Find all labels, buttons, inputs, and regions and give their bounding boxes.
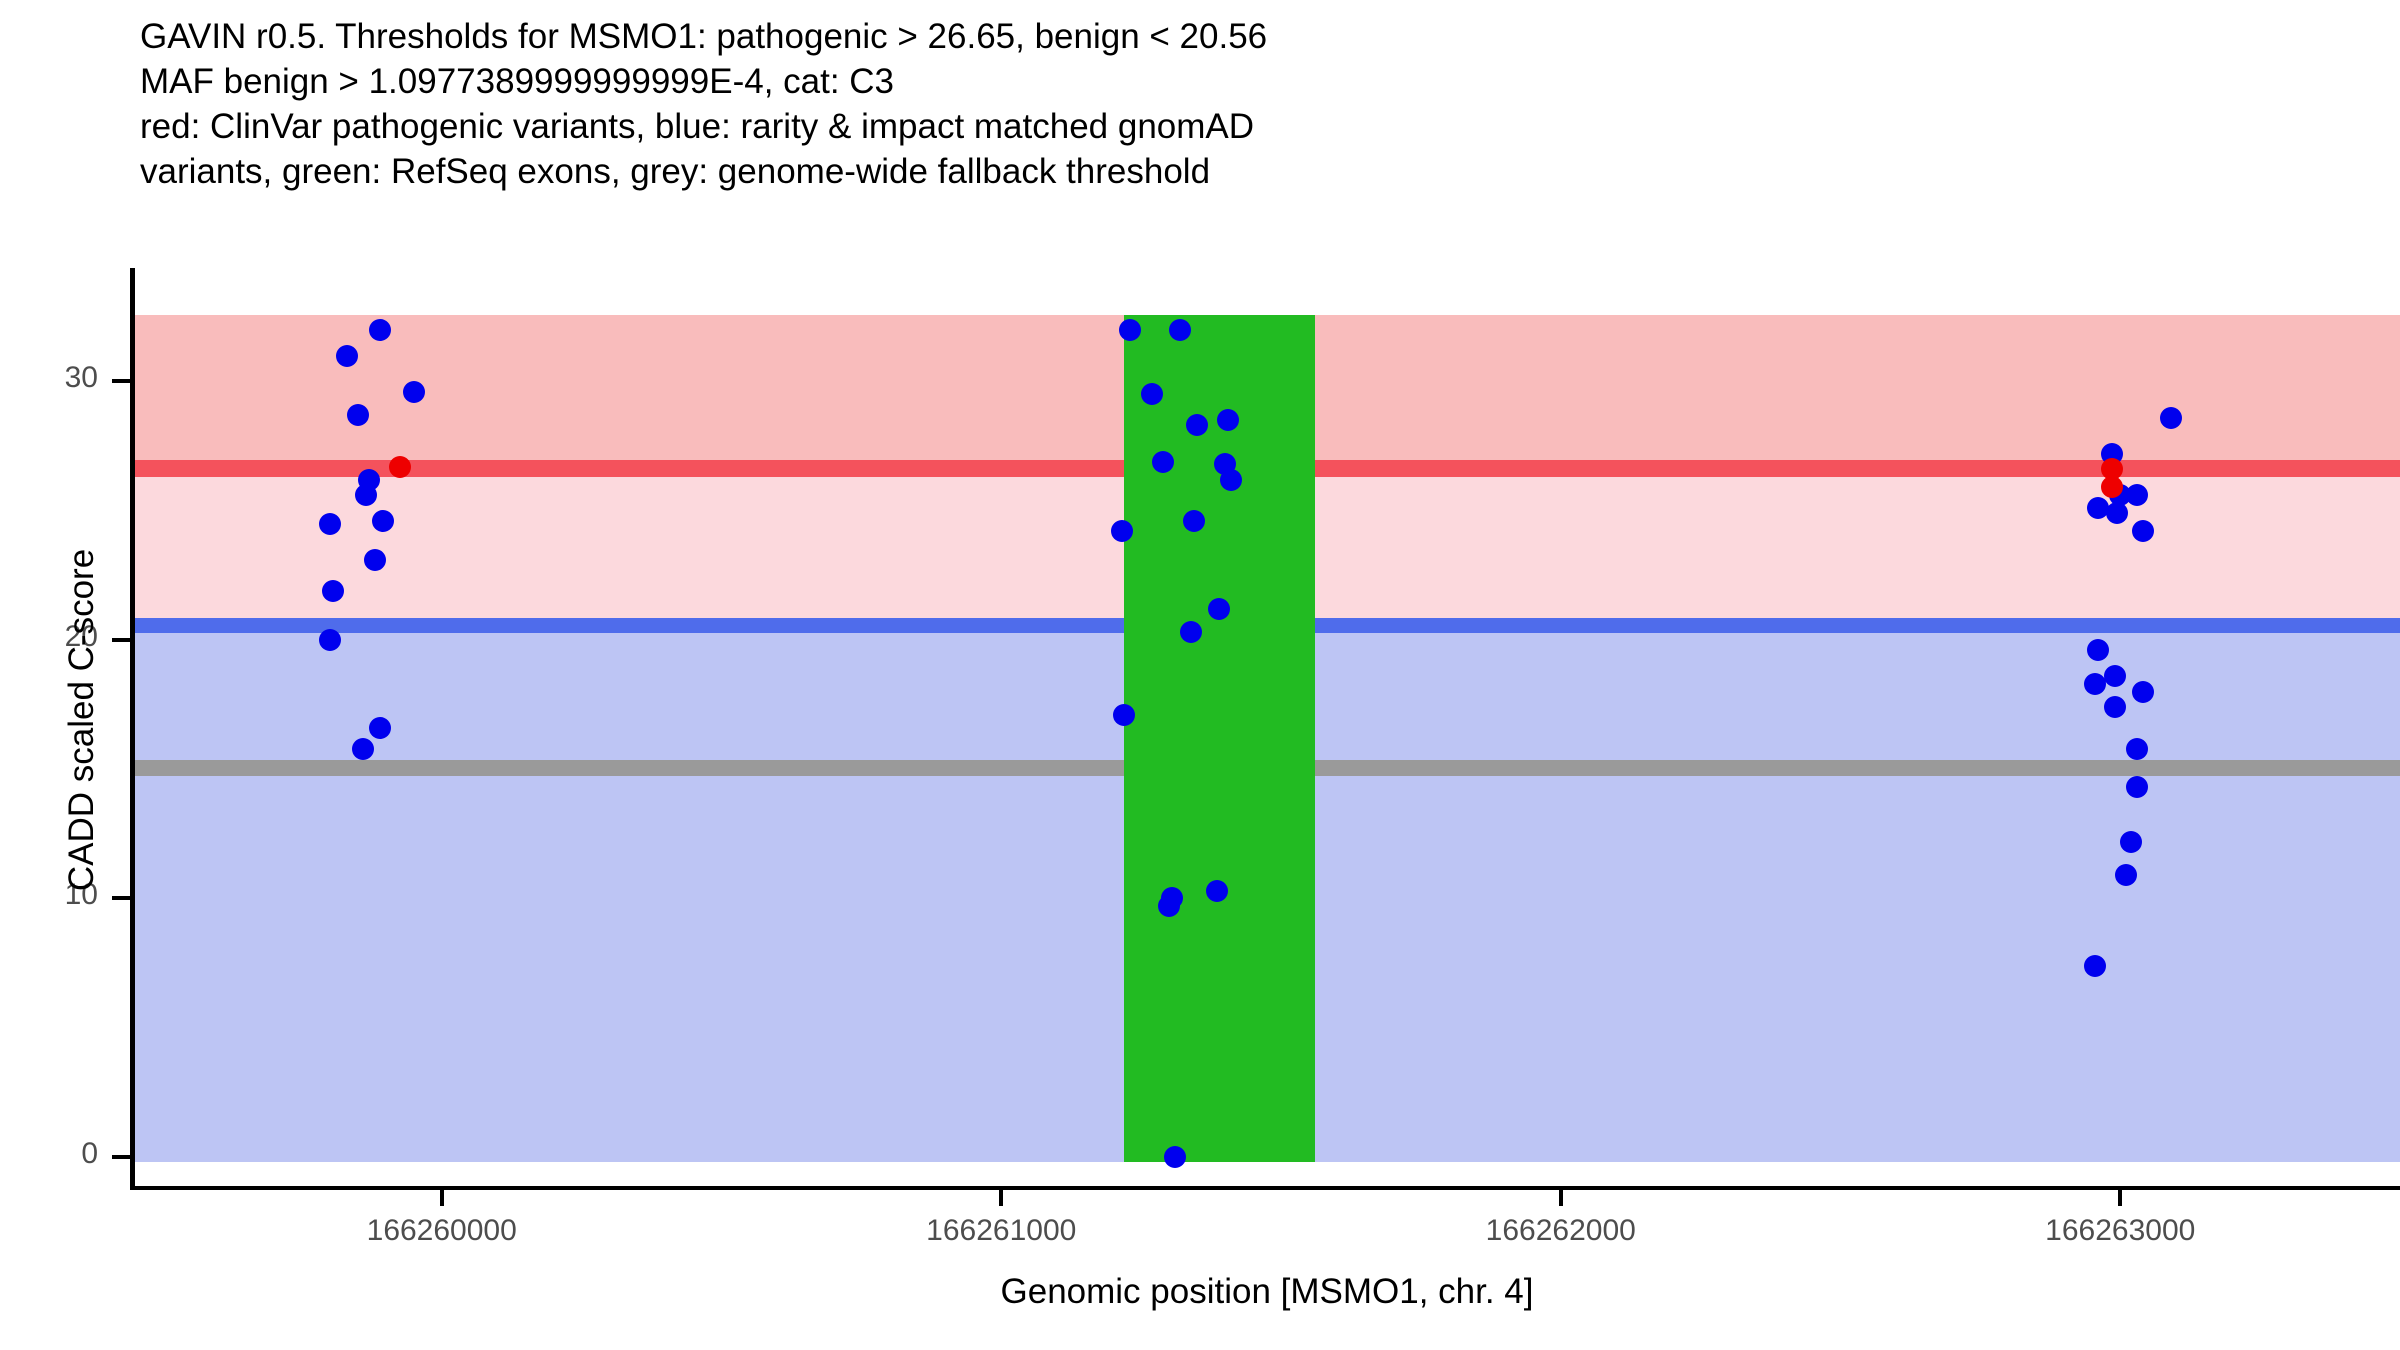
gnomad-variant-point [1119,319,1141,341]
y-axis-title: CADD scaled C-score [62,370,102,1070]
y-tick-mark [112,1155,130,1159]
x-tick-label: 166262000 [1486,1214,1636,1248]
gnomad-variant-point [2084,673,2106,695]
x-tick-mark [440,1190,444,1206]
x-tick-mark [999,1190,1003,1206]
gnomad-variant-point [364,549,386,571]
refseq-exon-band [1124,315,1314,1162]
gnomad-variant-point [2132,681,2154,703]
y-tick-mark [112,896,130,900]
title-line-2: MAF benign > 1.0977389999999999E-4, cat:… [140,59,2340,104]
gnomad-variant-point [2104,665,2126,687]
x-tick-mark [2118,1190,2122,1206]
gnomad-variant-point [1152,451,1174,473]
gnomad-variant-point [1111,520,1133,542]
y-tick-mark [112,638,130,642]
gnomad-variant-point [372,510,394,532]
plot-title: GAVIN r0.5. Thresholds for MSMO1: pathog… [140,14,2340,194]
clinvar-variant-point [389,456,411,478]
x-tick-label: 166263000 [2045,1214,2195,1248]
gnomad-variant-point [2084,955,2106,977]
gnomad-variant-point [319,513,341,535]
x-tick-mark [1559,1190,1563,1206]
gnomad-variant-point [369,717,391,739]
y-axis-line [130,268,135,1188]
gnomad-variant-point [2115,864,2137,886]
y-tick-label: 0 [81,1137,98,1171]
gnomad-variant-point [403,381,425,403]
gnomad-variant-point [2126,738,2148,760]
plot-panel [134,278,2400,1188]
gnomad-variant-point [1220,469,1242,491]
gnomad-variant-point [2160,407,2182,429]
gnomad-variant-point [352,738,374,760]
gnomad-variant-point [347,404,369,426]
title-line-3: red: ClinVar pathogenic variants, blue: … [140,104,2340,149]
gnomad-variant-point [336,345,358,367]
title-line-1: GAVIN r0.5. Thresholds for MSMO1: pathog… [140,14,2340,59]
x-axis-title: Genomic position [MSMO1, chr. 4] [134,1272,2400,1312]
gnomad-variant-point [1164,1146,1186,1168]
gnomad-variant-point [2087,639,2109,661]
y-tick-mark [112,379,130,383]
gnomad-variant-point [1169,319,1191,341]
gnomad-variant-point [2120,831,2142,853]
x-axis-line [130,1186,2400,1190]
gnomad-variant-point [2104,696,2126,718]
gnomad-variant-point [369,319,391,341]
title-line-4: variants, green: RefSeq exons, grey: gen… [140,149,2340,194]
gnomad-variant-point [322,580,344,602]
gnomad-variant-point [2132,520,2154,542]
gnomad-variant-point [1206,880,1228,902]
x-tick-label: 166261000 [926,1214,1076,1248]
gnomad-variant-point [1217,409,1239,431]
scatter-plot-figure: GAVIN r0.5. Thresholds for MSMO1: pathog… [0,0,2400,1350]
gnomad-variant-point [319,629,341,651]
x-tick-label: 166260000 [367,1214,517,1248]
